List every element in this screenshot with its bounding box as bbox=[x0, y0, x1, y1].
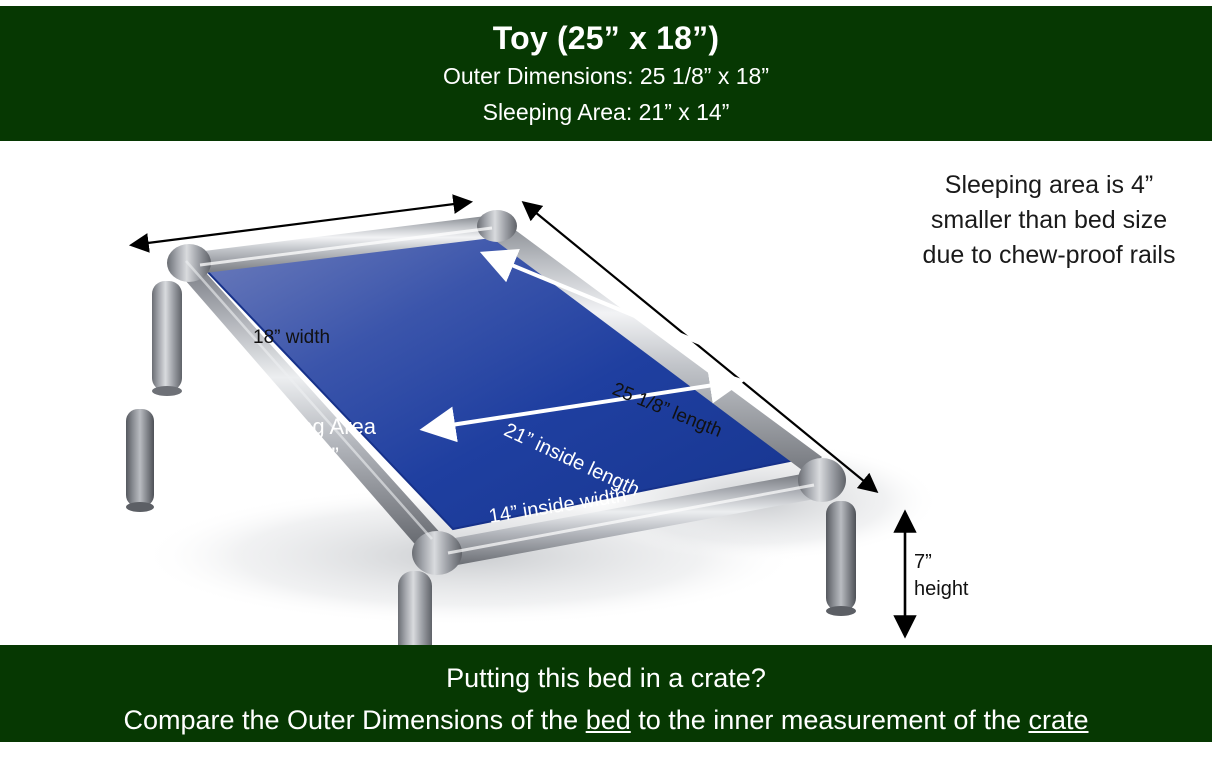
compare-pre-text: Compare the Outer Dimensions of the bbox=[123, 705, 585, 735]
product-dimension-infographic: Toy (25” x 18”) Outer Dimensions: 25 1/8… bbox=[0, 0, 1212, 758]
bed-leg-front-left bbox=[152, 281, 182, 396]
label-sleeping-area-size: 21” x 14” bbox=[252, 443, 339, 469]
label-sleeping-area-title: Sleeping Area bbox=[239, 414, 376, 440]
product-title: Toy (25” x 18”) bbox=[0, 18, 1212, 58]
label-height-value: 7” bbox=[914, 551, 932, 574]
bottom-banner: Putting this bed in a crate? Compare the… bbox=[0, 645, 1212, 742]
label-outer-width: 18” width bbox=[253, 327, 330, 349]
crate-question: Putting this bed in a crate? bbox=[0, 657, 1212, 699]
outer-dimensions-text: Outer Dimensions: 25 1/8” x 18” bbox=[0, 58, 1212, 94]
compare-crate-word: crate bbox=[1028, 705, 1088, 735]
bed-illustration bbox=[0, 141, 1212, 645]
dog-bed-diagram: 18” width 25 1/8” length Sleeping Area 2… bbox=[0, 141, 1212, 645]
bed-leg-back-left bbox=[126, 409, 154, 512]
compare-bed-word: bed bbox=[586, 705, 631, 735]
crate-compare-line: Compare the Outer Dimensions of the bed … bbox=[0, 699, 1212, 741]
sleeping-area-text: Sleeping Area: 21” x 14” bbox=[0, 94, 1212, 130]
corner-joint-right bbox=[798, 458, 846, 502]
corner-joint-back bbox=[477, 210, 517, 242]
bed-leg-front-center bbox=[398, 571, 432, 645]
compare-mid-text: to the inner measurement of the bbox=[631, 705, 1029, 735]
bed-leg-back-right bbox=[826, 501, 856, 616]
label-height-word: height bbox=[914, 578, 969, 601]
top-banner: Toy (25” x 18”) Outer Dimensions: 25 1/8… bbox=[0, 6, 1212, 141]
